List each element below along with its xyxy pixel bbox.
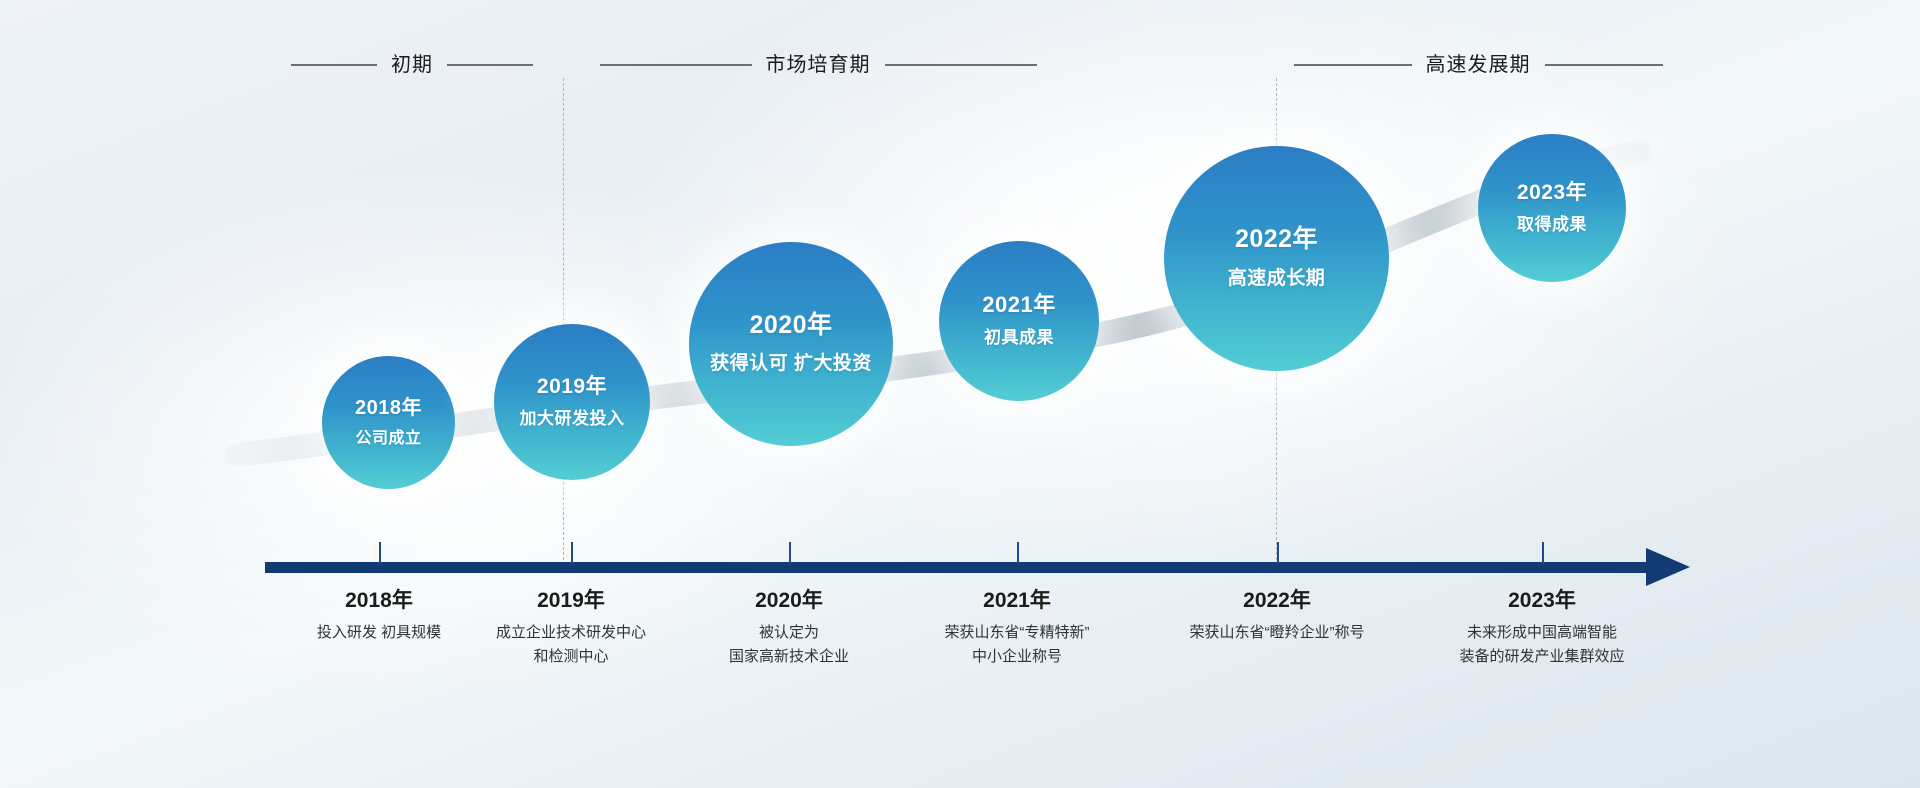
bubble-year: 2020年 xyxy=(749,312,832,340)
caption-year: 2018年 xyxy=(317,588,441,614)
phase-label-2: 市场培育期 xyxy=(766,55,871,75)
phase-rule-right xyxy=(447,64,533,66)
caption-year: 2021年 xyxy=(945,588,1090,614)
phase-rule-left xyxy=(1294,64,1412,66)
axis-tick-2020 xyxy=(789,542,791,564)
milestone-caption-2023: 2023年 未来形成中国高端智能 装备的研发产业集群效应 xyxy=(1459,588,1624,669)
phase-group-3: 高速发展期 xyxy=(1292,48,1664,82)
axis-tick-2018 xyxy=(379,542,381,564)
caption-body: 成立企业技术研发中心 和检测中心 xyxy=(496,621,646,668)
axis-tick-2021 xyxy=(1017,542,1019,564)
timeline-axis xyxy=(265,562,1650,573)
milestone-bubble-2020[interactable]: 2020年 获得认可 扩大投资 xyxy=(689,242,893,446)
milestone-caption-2021: 2021年 荣获山东省“专精特新” 中小企业称号 xyxy=(945,588,1090,669)
bubble-desc: 公司成立 xyxy=(355,429,421,448)
bubble-year: 2023年 xyxy=(1517,181,1587,204)
caption-line-2: 装备的研发产业集群效应 xyxy=(1459,645,1624,669)
milestone-bubble-2022[interactable]: 2022年 高速成长期 xyxy=(1164,146,1389,371)
milestone-caption-2020: 2020年 被认定为 国家高新技术企业 xyxy=(729,588,849,669)
bubble-year: 2018年 xyxy=(355,397,422,419)
caption-line-1: 荣获山东省“专精特新” xyxy=(945,621,1090,645)
milestone-caption-2022: 2022年 荣获山东省“瞪羚企业”称号 xyxy=(1190,588,1365,645)
caption-year: 2020年 xyxy=(729,588,849,614)
phase-group-2: 市场培育期 xyxy=(578,48,1058,82)
milestone-bubble-2021[interactable]: 2021年 初具成果 xyxy=(939,241,1099,401)
timeline-infographic: 初期 市场培育期 高速发展期 2018年 公司成立 2019年 加大研发投入 2… xyxy=(0,0,1920,788)
caption-body: 未来形成中国高端智能 装备的研发产业集群效应 xyxy=(1459,621,1624,668)
caption-line-1: 被认定为 xyxy=(729,621,849,645)
milestone-bubble-2018[interactable]: 2018年 公司成立 xyxy=(322,356,455,489)
milestone-bubble-2023[interactable]: 2023年 取得成果 xyxy=(1478,134,1626,282)
milestone-caption-2019: 2019年 成立企业技术研发中心 和检测中心 xyxy=(496,588,646,669)
caption-line-1: 投入研发 初具规模 xyxy=(317,621,441,645)
caption-line-1: 荣获山东省“瞪羚企业”称号 xyxy=(1190,621,1365,645)
caption-year: 2019年 xyxy=(496,588,646,614)
phase-label-1: 初期 xyxy=(391,55,433,75)
bubble-year: 2021年 xyxy=(982,293,1055,317)
axis-tick-2019 xyxy=(571,542,573,564)
caption-year: 2023年 xyxy=(1459,588,1624,614)
phase-header-band: 初期 市场培育期 高速发展期 xyxy=(0,48,1920,82)
bubble-desc: 高速成长期 xyxy=(1228,268,1326,291)
phase-rule-left xyxy=(291,64,377,66)
phase-label-3: 高速发展期 xyxy=(1426,55,1531,75)
axis-tick-2022 xyxy=(1277,542,1279,564)
timeline-arrow-icon xyxy=(1646,548,1690,586)
caption-body: 投入研发 初具规模 xyxy=(317,621,441,645)
phase-rule-right xyxy=(1545,64,1663,66)
caption-line-2: 中小企业称号 xyxy=(945,645,1090,669)
bubble-desc: 加大研发投入 xyxy=(520,409,625,429)
caption-body: 被认定为 国家高新技术企业 xyxy=(729,621,849,668)
caption-body: 荣获山东省“专精特新” 中小企业称号 xyxy=(945,621,1090,668)
bubble-desc: 初具成果 xyxy=(984,328,1054,348)
caption-line-2: 和检测中心 xyxy=(496,645,646,669)
bubble-desc: 取得成果 xyxy=(1517,215,1587,235)
milestone-bubble-2019[interactable]: 2019年 加大研发投入 xyxy=(494,324,650,480)
ribbon-curve xyxy=(0,0,1920,788)
axis-tick-2023 xyxy=(1542,542,1544,564)
phase-rule-right xyxy=(885,64,1037,66)
bubble-year: 2022年 xyxy=(1235,226,1318,254)
bubble-desc: 获得认可 扩大投资 xyxy=(710,353,872,376)
bubble-year: 2019年 xyxy=(537,375,607,398)
caption-line-1: 成立企业技术研发中心 xyxy=(496,621,646,645)
caption-year: 2022年 xyxy=(1190,588,1365,614)
milestone-caption-2018: 2018年 投入研发 初具规模 xyxy=(317,588,441,645)
phase-group-1: 初期 xyxy=(262,48,562,82)
phase-rule-left xyxy=(600,64,752,66)
phase-divider-1 xyxy=(563,78,564,560)
caption-line-2: 国家高新技术企业 xyxy=(729,645,849,669)
caption-body: 荣获山东省“瞪羚企业”称号 xyxy=(1190,621,1365,645)
caption-line-1: 未来形成中国高端智能 xyxy=(1459,621,1624,645)
